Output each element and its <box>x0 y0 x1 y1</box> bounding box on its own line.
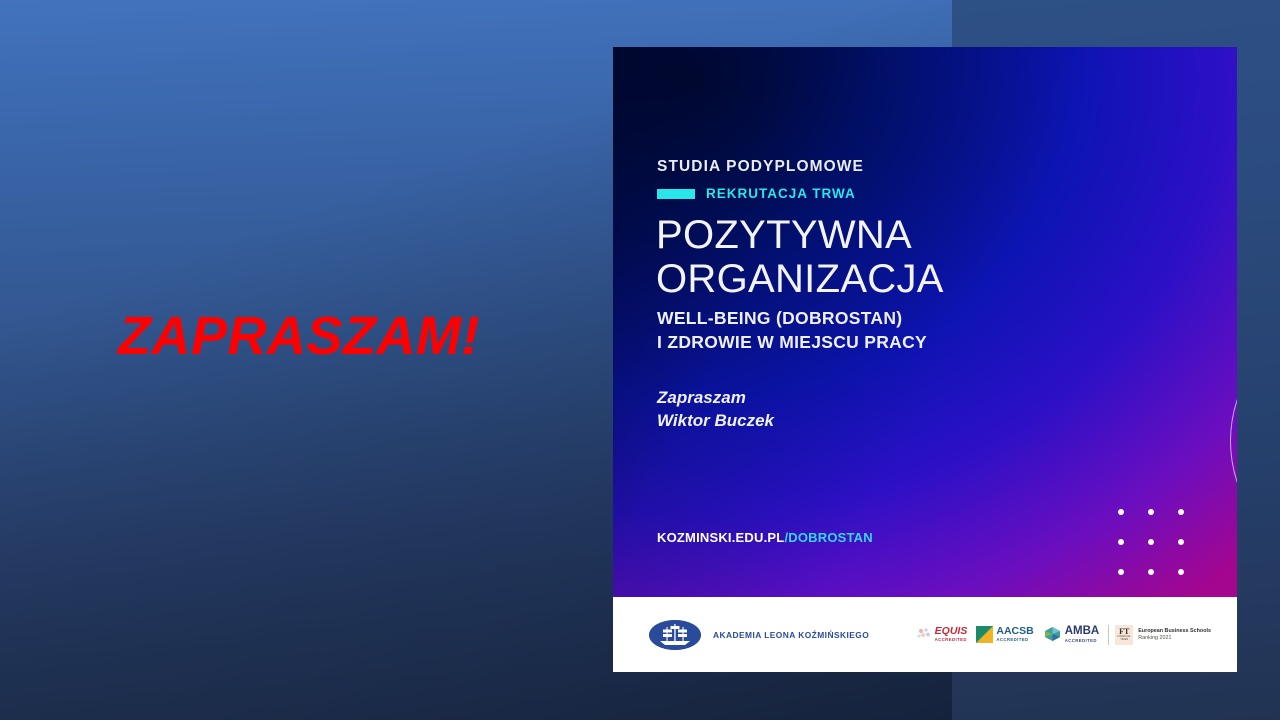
poster-signature: Zapraszam Wiktor Buczek <box>657 387 774 432</box>
badge-aacsb: AACSB ACCREDITED <box>976 626 1033 643</box>
poster-url: KOZMINSKI.EDU.PL/DOBROSTAN <box>657 530 873 545</box>
slide-canvas: ZAPRASZAM! STUDIA PODYPLOMOWE REKRUTACJA… <box>0 0 1280 720</box>
ft-ranking-title: European Business Schools <box>1138 628 1211 635</box>
cyan-marker-icon <box>657 189 695 199</box>
decorative-dot <box>1178 569 1184 575</box>
poster-footer-bar: AKADEMIA LEONA KOŹMIŃSKIEGO E <box>613 597 1237 672</box>
financial-times-mark-icon: FT FINANCIAL TIMES <box>1115 625 1133 645</box>
amba-sub: ACCREDITED <box>1065 639 1100 643</box>
decorative-dot <box>1148 539 1154 545</box>
university-brand: AKADEMIA LEONA KOŹMIŃSKIEGO <box>649 620 869 650</box>
amba-title: AMBA <box>1065 626 1100 638</box>
decorative-dot <box>1178 509 1184 515</box>
decorative-dot <box>1148 569 1154 575</box>
url-base: KOZMINSKI.EDU.PL <box>657 530 784 545</box>
accreditation-badges: EQUIS ACCREDITED AACSB ACCREDITED <box>916 625 1211 645</box>
recruitment-label: REKRUTACJA TRWA <box>706 186 856 201</box>
ft-ranking-year: Ranking 2021 <box>1138 635 1211 642</box>
decorative-dot <box>1118 569 1124 575</box>
aacsb-title: AACSB <box>996 626 1033 637</box>
poster-title-line-2: ORGANIZACJA <box>656 259 944 299</box>
ft-text: European Business Schools Ranking 2021 <box>1138 628 1211 642</box>
poster-eyebrow: STUDIA PODYPLOMOWE <box>657 158 864 176</box>
decorative-dot-grid <box>1118 509 1198 581</box>
equis-mark-icon <box>916 626 932 642</box>
promo-poster: STUDIA PODYPLOMOWE REKRUTACJA TRWA POZYT… <box>613 47 1237 672</box>
badge-amba: AMBA ACCREDITED <box>1043 626 1100 643</box>
equis-sub: ACCREDITED <box>935 638 968 642</box>
equis-title: EQUIS <box>935 626 968 637</box>
signature-greeting: Zapraszam <box>657 387 774 410</box>
decorative-dot <box>1148 509 1154 515</box>
ft-tagline: FINANCIAL TIMES <box>1115 636 1133 642</box>
aacsb-mark-icon <box>976 626 993 643</box>
url-path: /DOBROSTAN <box>784 530 872 545</box>
badge-equis: EQUIS ACCREDITED <box>916 626 968 642</box>
poster-subtitle: WELL-BEING (DOBROSTAN)I ZDROWIE W MIEJSC… <box>657 307 927 354</box>
badge-ft-ranking: FT FINANCIAL TIMES European Business Sch… <box>1108 625 1211 645</box>
recruitment-status: REKRUTACJA TRWA <box>657 186 856 201</box>
aacsb-sub: ACCREDITED <box>996 638 1033 642</box>
invite-headline: ZAPRASZAM! <box>118 307 480 366</box>
amba-mark-icon <box>1043 626 1062 642</box>
decorative-dot <box>1178 539 1184 545</box>
aacsb-text: AACSB ACCREDITED <box>996 626 1033 642</box>
decorative-dot <box>1118 539 1124 545</box>
decorative-dot <box>1118 509 1124 515</box>
poster-title-line-1: POZYTYWNA <box>656 215 912 255</box>
amba-text: AMBA ACCREDITED <box>1065 626 1100 643</box>
equis-text: EQUIS ACCREDITED <box>935 626 968 642</box>
sailing-ship-logo-icon <box>649 620 701 650</box>
university-name: AKADEMIA LEONA KOŹMIŃSKIEGO <box>713 630 869 640</box>
signature-name: Wiktor Buczek <box>657 410 774 433</box>
